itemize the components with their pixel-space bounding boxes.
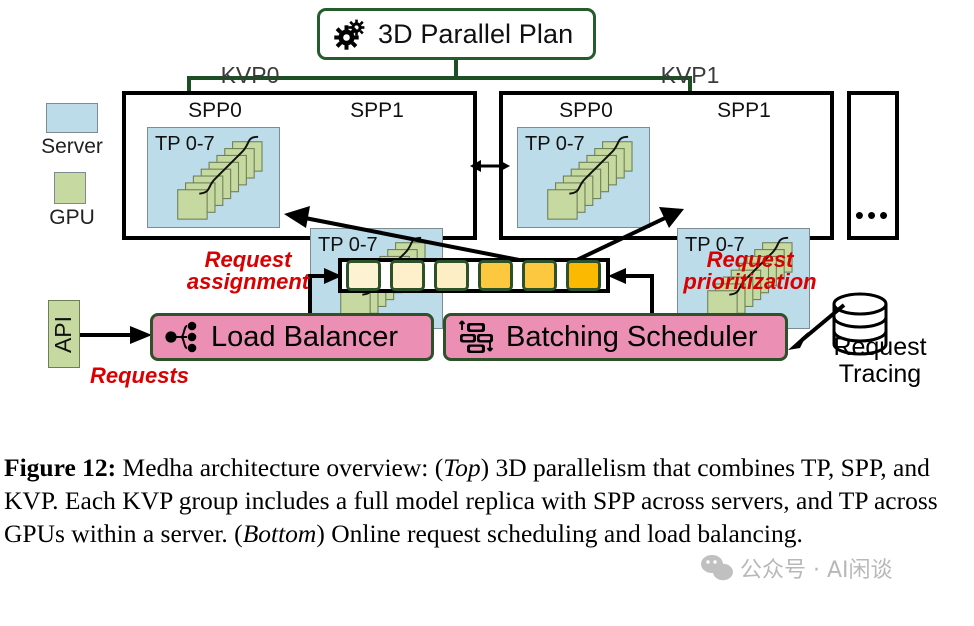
spp-title-0-0: SPP0 [140, 99, 290, 123]
server-0-0: TP 0-7 [147, 127, 280, 228]
spp-title-1-1: SPP1 [669, 99, 819, 123]
watermark-text: 公众号 · AI闲谈 [740, 552, 893, 584]
legend-swatch-server [46, 103, 98, 133]
caption-bottom-italic: Bottom [243, 519, 317, 548]
legend-label-gpu: GPU [22, 206, 122, 230]
spp-title-0-1: SPP1 [302, 99, 452, 123]
spp-title-1-0: SPP0 [511, 99, 661, 123]
queue-cell-3[interactable] [478, 260, 513, 291]
api-label: API [51, 315, 78, 352]
queue-cell-2[interactable] [434, 260, 469, 291]
caption-top-italic: Top [443, 453, 480, 482]
kvp-group-title-0: KVP0 [185, 62, 315, 89]
api-to-lb-arrow [80, 322, 152, 348]
caption-figure-number: Figure 12: [4, 453, 116, 482]
gpu-stack-0-0 [148, 128, 279, 227]
annotation-requests: Requests [90, 365, 230, 387]
kvp-interconnect-arrow [470, 150, 510, 182]
gears-icon [334, 18, 368, 50]
batching-scheduler-box[interactable]: Batching Scheduler [443, 313, 788, 361]
plan-label: 3D Parallel Plan [378, 19, 573, 50]
load-balancer-icon [165, 320, 199, 354]
server-1-0: TP 0-7 [517, 127, 650, 228]
caption-part3: ) Online request scheduling and load bal… [316, 519, 802, 548]
queue-cell-0[interactable] [346, 260, 381, 291]
load-balancer-box[interactable]: Load Balancer [150, 313, 434, 361]
wechat-icon [700, 553, 734, 583]
kvp-group-more: ••• [847, 91, 899, 240]
batching-scheduler-icon [458, 320, 494, 354]
kvp-group-0: SPP0 TP 0-7 SPP1 TP 0-7 [122, 91, 477, 240]
caption-part1: Medha architecture overview: ( [116, 453, 443, 482]
kvp-group-1: SPP0 TP 0-7 SPP1 TP 0-7 [499, 91, 834, 240]
annotation-request-assignment: Request assignment [148, 249, 348, 294]
api-box[interactable]: API [48, 300, 80, 368]
batching-scheduler-label: Batching Scheduler [506, 321, 758, 354]
datastore-label: Request Tracing [800, 334, 960, 388]
queue-cell-1[interactable] [390, 260, 425, 291]
queue-cell-5[interactable] [566, 260, 601, 291]
annotation-request-prioritization: Request prioritization [640, 249, 860, 294]
gpu-stack-1-0 [518, 128, 649, 227]
kvp-group-title-1: KVP1 [625, 62, 755, 89]
queue-cell-4[interactable] [522, 260, 557, 291]
legend-swatch-gpu [54, 172, 86, 204]
figure-caption: Figure 12: Medha architecture overview: … [4, 452, 970, 551]
watermark: 公众号 · AI闲谈 [700, 548, 964, 588]
plan-chip[interactable]: 3D Parallel Plan [317, 8, 596, 60]
legend-label-server: Server [22, 135, 122, 159]
ellipsis-label: ••• [855, 209, 891, 222]
figure-root: 3D Parallel Plan KVP0 SPP0 TP 0-7 [0, 0, 974, 626]
load-balancer-label: Load Balancer [211, 321, 398, 354]
